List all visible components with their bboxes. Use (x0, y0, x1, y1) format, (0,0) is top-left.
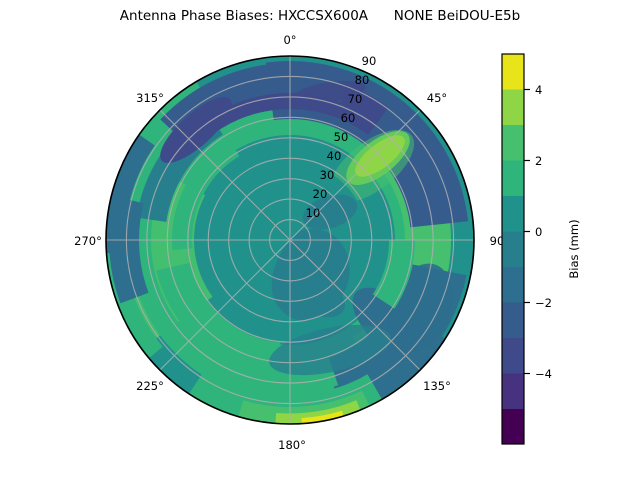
r-label-80: 80 (355, 73, 370, 87)
cb-tick-4: 4 (535, 83, 542, 97)
theta-label-315: 315° (136, 91, 164, 105)
cb-tick-2: 2 (535, 154, 542, 168)
cb-swatch-10 (502, 54, 524, 90)
cb-swatch-1 (502, 374, 524, 410)
cb-swatch-4 (502, 267, 524, 303)
r-label-40: 40 (327, 149, 342, 163)
r-label-70: 70 (348, 92, 363, 106)
polar-axes: 10 20 30 40 50 60 70 80 90 0° 45° 90 135… (0, 0, 640, 480)
r-label-60: 60 (341, 111, 356, 125)
theta-label-0: 0° (283, 33, 296, 47)
colorbar-ticks (524, 90, 530, 374)
colorbar-swatches (502, 54, 524, 444)
theta-label-270: 270° (74, 234, 102, 248)
cb-swatch-6 (502, 196, 524, 232)
matplotlib-figure: Antenna Phase Biases: HXCCSX600A NONE Be… (0, 0, 640, 480)
cb-swatch-7 (502, 161, 524, 197)
plot-canvas: 10 20 30 40 50 60 70 80 90 0° 45° 90 135… (0, 0, 640, 480)
polar-grid (106, 56, 474, 424)
theta-label-135: 135° (423, 379, 451, 393)
r-label-20: 20 (313, 187, 328, 201)
r-label-30: 30 (320, 168, 335, 182)
colorbar-tick-labels: 4 2 0 −2 −4 (535, 83, 552, 381)
r-label-50: 50 (334, 130, 349, 144)
cb-tick-neg2: −2 (535, 296, 552, 310)
cb-swatch-8 (502, 125, 524, 161)
r-label-90: 90 (362, 54, 377, 68)
colorbar[interactable]: 4 2 0 −2 −4 Bias (mm) (502, 54, 581, 444)
cb-tick-0: 0 (535, 225, 542, 239)
theta-label-180: 180° (278, 438, 306, 452)
cb-swatch-5 (502, 232, 524, 268)
colorbar-axis-label: Bias (mm) (567, 219, 581, 278)
cb-swatch-3 (502, 303, 524, 339)
cb-tick-neg4: −4 (535, 367, 552, 381)
theta-label-45: 45° (427, 91, 447, 105)
theta-label-225: 225° (136, 379, 164, 393)
cb-swatch-2 (502, 338, 524, 374)
r-label-10: 10 (306, 206, 321, 220)
cb-swatch-0 (502, 409, 524, 444)
cb-swatch-9 (502, 90, 524, 126)
